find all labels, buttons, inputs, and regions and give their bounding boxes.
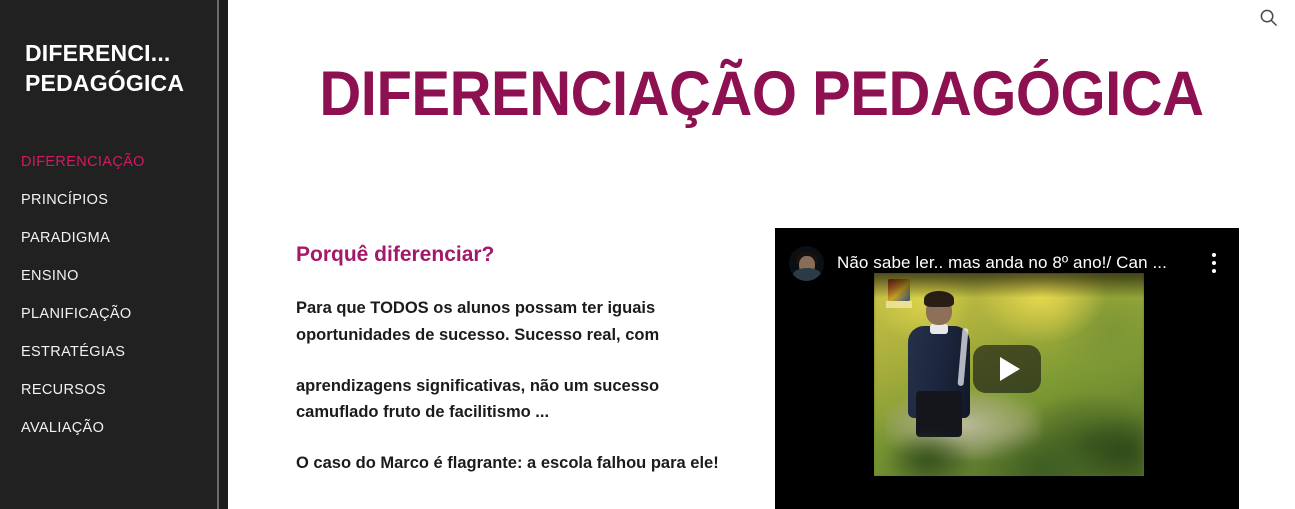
sidebar-item-diferenciacao[interactable]: DIFERENCIAÇÃO bbox=[0, 143, 217, 181]
sidebar-item-avaliacao[interactable]: AVALIAÇÃO bbox=[0, 409, 217, 447]
kebab-dot-3 bbox=[1212, 269, 1216, 273]
paragraph-2: aprendizagens significativas, não um suc… bbox=[296, 373, 732, 426]
paragraph-1: Para que TODOS os alunos possam ter igua… bbox=[296, 295, 732, 348]
site-title: DIFERENCI... PEDAGÓGICA bbox=[0, 0, 217, 99]
kebab-dot-1 bbox=[1212, 253, 1216, 257]
sidebar-gutter bbox=[219, 0, 228, 509]
sidebar-content: DIFERENCI... PEDAGÓGICA DIFERENCIAÇÃO PR… bbox=[0, 0, 217, 509]
section-subheading: Porquê diferenciar? bbox=[296, 242, 732, 267]
sidebar-item-ensino[interactable]: ENSINO bbox=[0, 257, 217, 295]
play-button[interactable] bbox=[973, 345, 1041, 393]
channel-avatar[interactable] bbox=[789, 246, 824, 281]
sidebar-item-paradigma[interactable]: PARADIGMA bbox=[0, 219, 217, 257]
thumbnail-foreground-blur bbox=[874, 395, 1144, 476]
main-content: DIFERENCIAÇÃO PEDAGÓGICA Porquê diferenc… bbox=[228, 0, 1295, 509]
kebab-menu-icon[interactable] bbox=[1201, 243, 1227, 283]
thumbnail-channel-bug-text bbox=[886, 301, 912, 308]
sidebar: DIFERENCI... PEDAGÓGICA DIFERENCIAÇÃO PR… bbox=[0, 0, 228, 509]
slide-page: DIFERENCI... PEDAGÓGICA DIFERENCIAÇÃO PR… bbox=[0, 0, 1295, 509]
text-column: Porquê diferenciar? Para que TODOS os al… bbox=[296, 242, 732, 477]
video-header: Não sabe ler.. mas anda no 8º ano!/ Can … bbox=[775, 228, 1239, 298]
play-icon bbox=[1000, 357, 1020, 381]
search-icon bbox=[1259, 8, 1278, 27]
sidebar-item-planificacao[interactable]: PLANIFICAÇÃO bbox=[0, 295, 217, 333]
sidebar-item-estrategias[interactable]: ESTRATÉGIAS bbox=[0, 333, 217, 371]
video-title[interactable]: Não sabe ler.. mas anda no 8º ano!/ Can … bbox=[837, 253, 1201, 273]
page-title: DIFERENCIAÇÃO PEDAGÓGICA bbox=[271, 63, 1253, 126]
thumbnail-person-collar bbox=[930, 324, 948, 334]
video-embed[interactable]: Não sabe ler.. mas anda no 8º ano!/ Can … bbox=[775, 228, 1239, 509]
avatar-body bbox=[793, 268, 821, 281]
kebab-dot-2 bbox=[1212, 261, 1216, 265]
search-button[interactable] bbox=[1253, 2, 1283, 32]
sidebar-item-recursos[interactable]: RECURSOS bbox=[0, 371, 217, 409]
paragraph-3: O caso do Marco é flagrante: a escola fa… bbox=[296, 450, 732, 477]
sidebar-item-principios[interactable]: PRINCÍPIOS bbox=[0, 181, 217, 219]
sidebar-nav: DIFERENCIAÇÃO PRINCÍPIOS PARADIGMA ENSIN… bbox=[0, 143, 217, 447]
